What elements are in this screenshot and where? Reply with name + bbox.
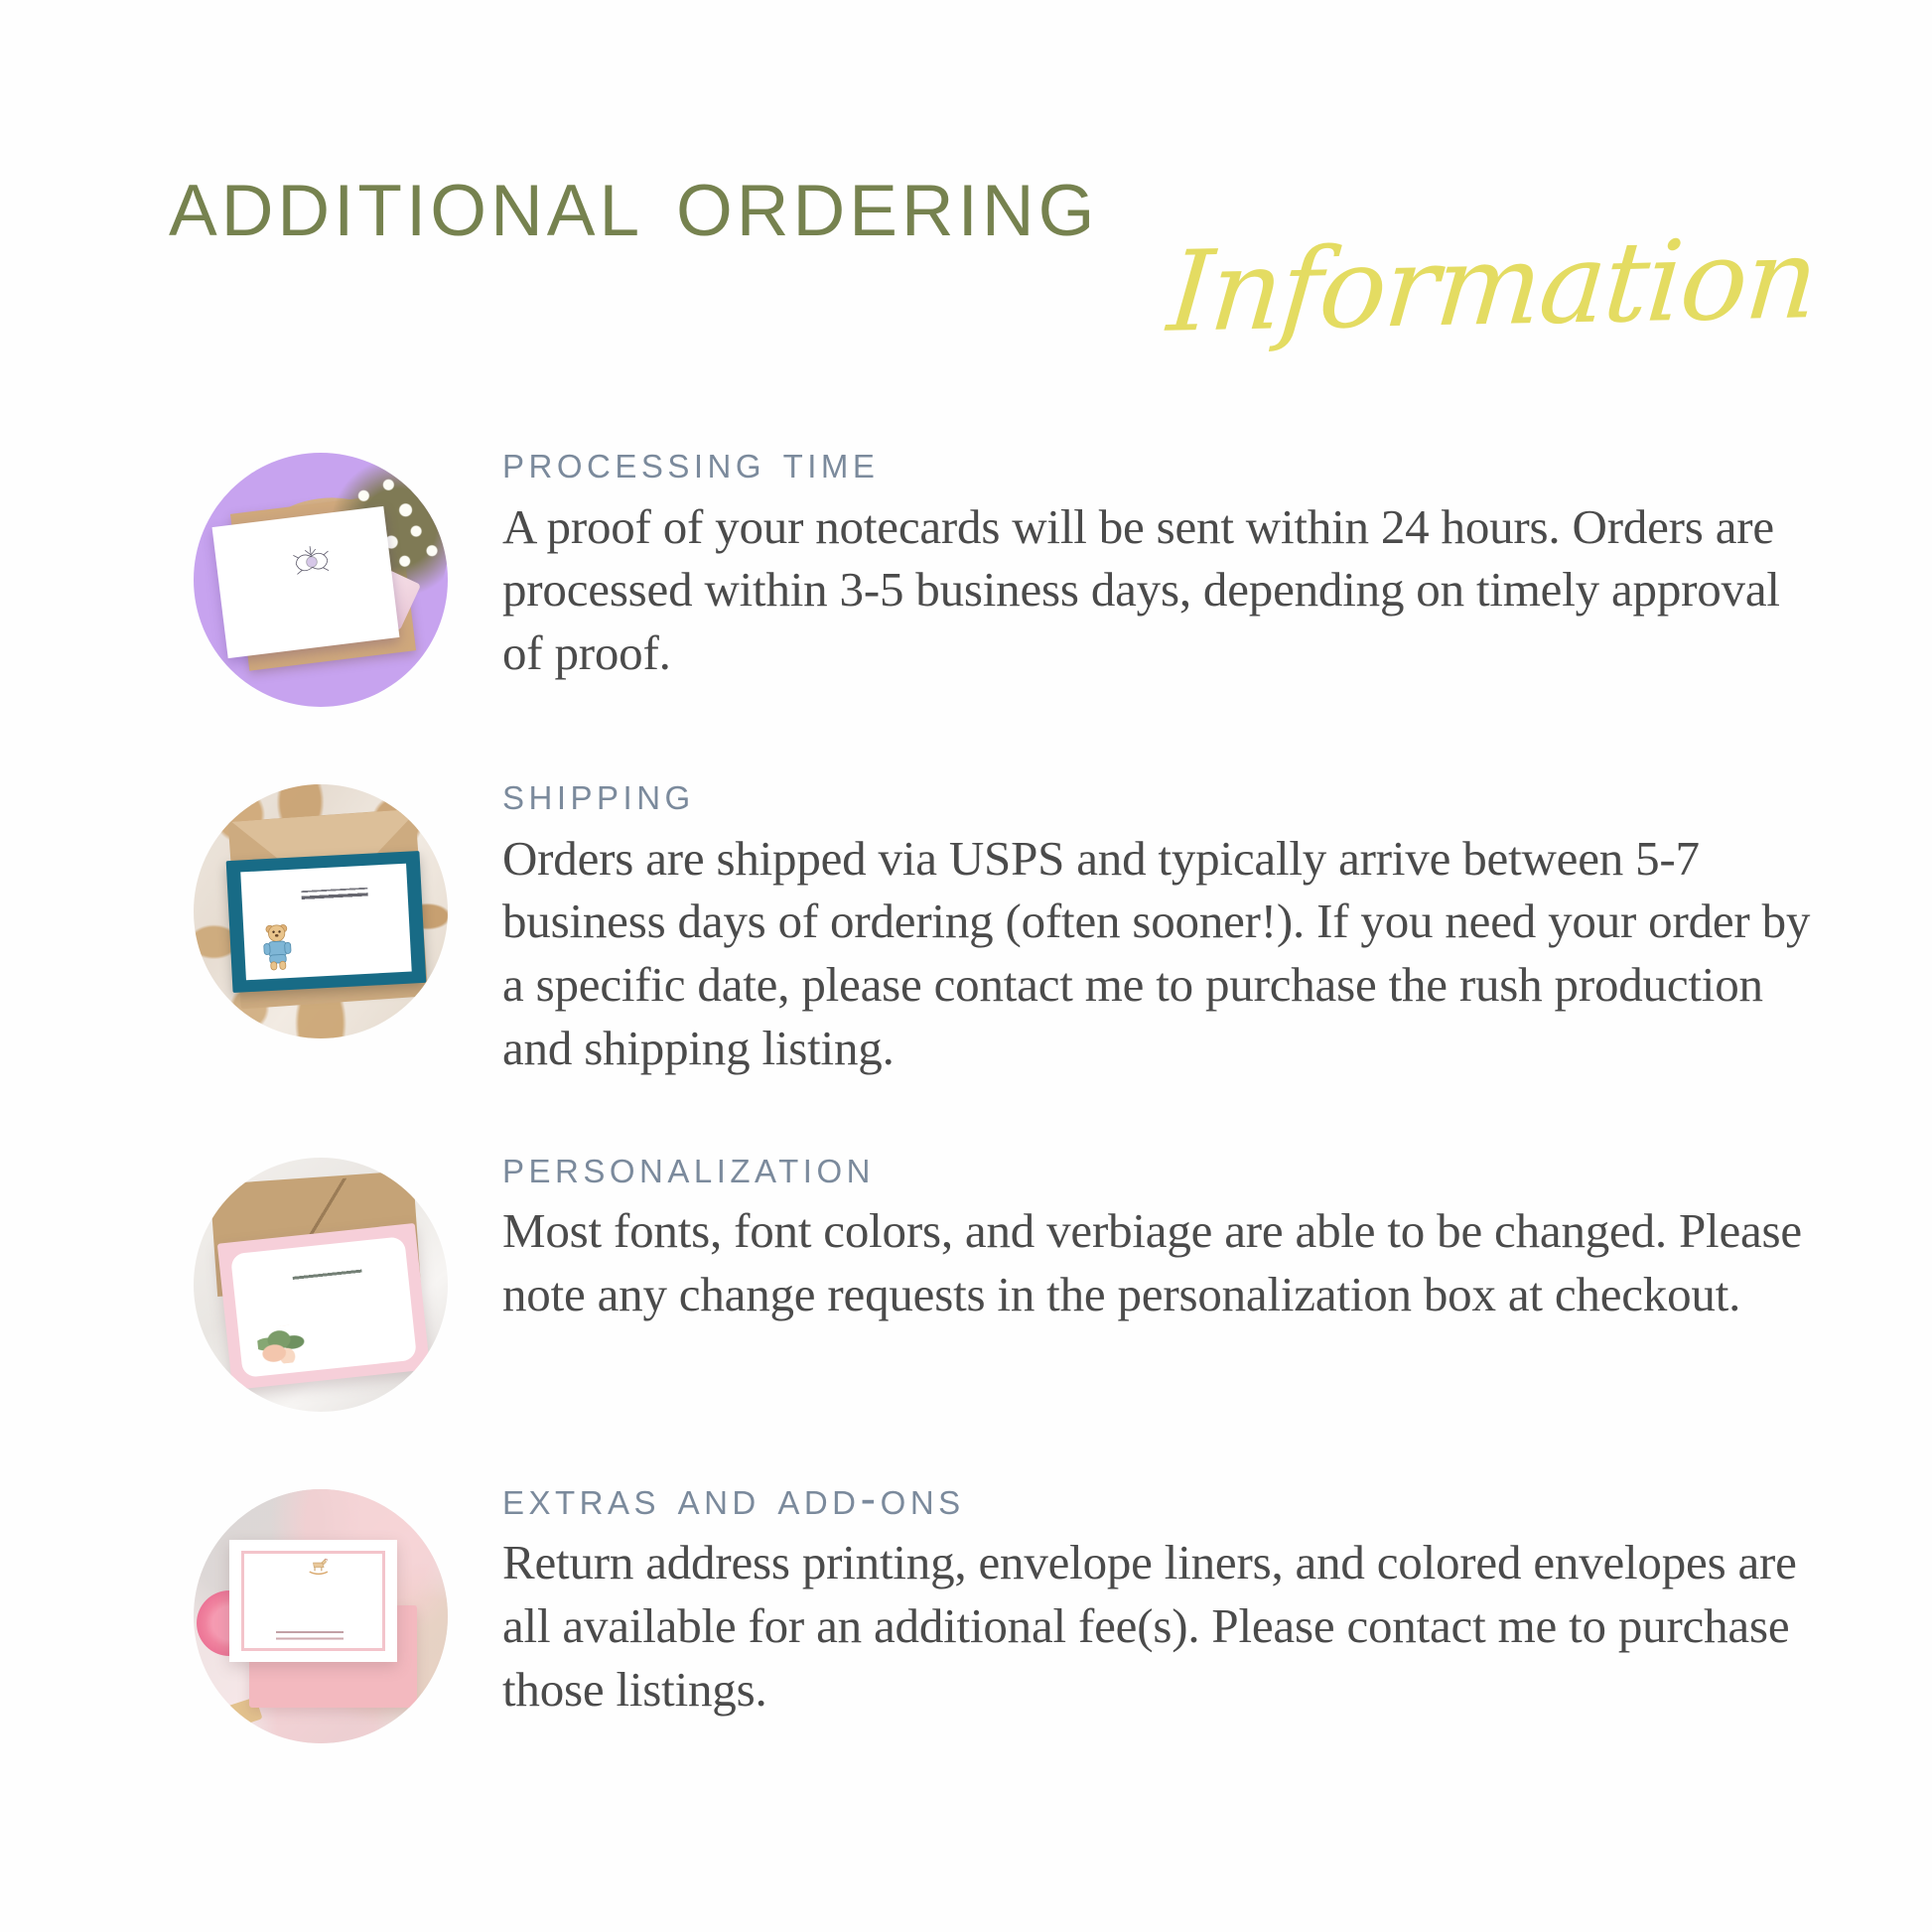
ordering-information-page: Additional Ordering Information	[0, 0, 1932, 1932]
rocking-horse-icon	[307, 1557, 331, 1577]
teal-teddy-bear-notecard-photo	[194, 784, 448, 1038]
page-title: Additional Ordering	[169, 149, 1098, 252]
section-heading: Extras and Add-Ons	[502, 1473, 1813, 1524]
pink-scalloped-floral-notecard-photo	[194, 1158, 448, 1412]
section-heading: Personalization	[502, 1142, 1813, 1192]
section-personalization: Personalization Most fonts, font colors,…	[0, 1142, 1932, 1412]
floral-crest-icon	[283, 536, 342, 588]
section-heading: Shipping	[502, 768, 1813, 819]
section-text: Return address printing, envelope liners…	[502, 1531, 1813, 1721]
section-extras-and-add-ons: Extras and Add-Ons Return address printi…	[0, 1473, 1932, 1743]
page-title-script: Information	[1164, 223, 1820, 348]
sections-list: Processing Time A proof of your notecard…	[0, 437, 1932, 1805]
section-heading: Processing Time	[502, 437, 1813, 487]
page-title-block: Additional Ordering Information	[0, 149, 1932, 397]
notecard-on-lavender-background-photo	[194, 453, 448, 707]
section-processing-time: Processing Time A proof of your notecard…	[0, 437, 1932, 707]
section-text: Most fonts, font colors, and verbiage ar…	[502, 1199, 1813, 1325]
section-body: Extras and Add-Ons Return address printi…	[448, 1473, 1932, 1722]
section-body: Processing Time A proof of your notecard…	[448, 437, 1932, 685]
pink-rocking-horse-notecard-photo	[194, 1489, 448, 1743]
section-body: Shipping Orders are shipped via USPS and…	[448, 768, 1932, 1080]
section-shipping: Shipping Orders are shipped via USPS and…	[0, 768, 1932, 1080]
section-body: Personalization Most fonts, font colors,…	[448, 1142, 1932, 1326]
section-text: A proof of your notecards will be sent w…	[502, 495, 1813, 685]
section-text: Orders are shipped via USPS and typicall…	[502, 827, 1813, 1080]
teddy-bear-icon	[256, 918, 299, 972]
